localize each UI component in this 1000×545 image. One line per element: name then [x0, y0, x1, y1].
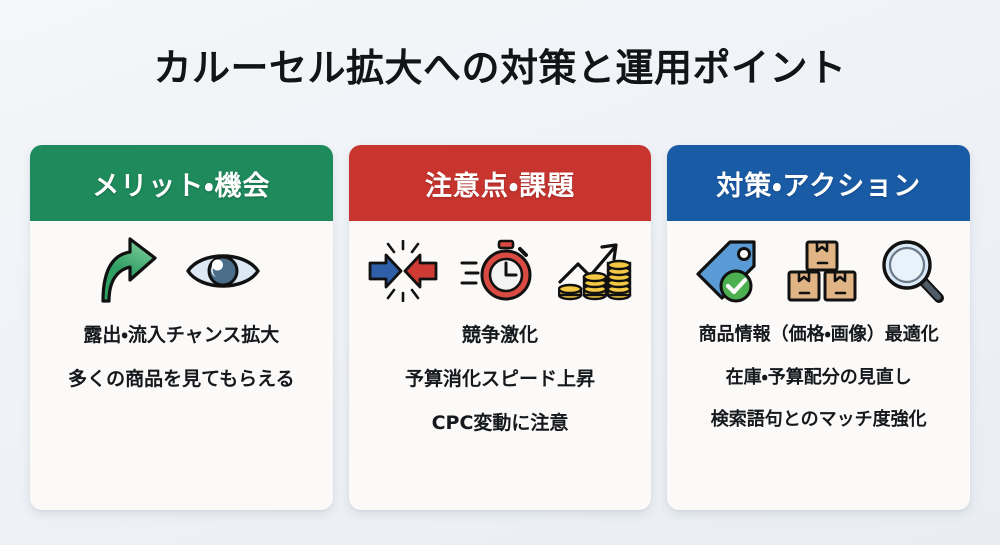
- card-action: 対策・アクション: [667, 145, 970, 510]
- card-action-lines: 商品情報（価格・画像）最適化 在庫・予算配分の見直し 検索語句とのマッチ度強化: [699, 321, 939, 510]
- list-item: 商品情報（価格・画像）最適化: [699, 325, 939, 346]
- card-merit-icons: [101, 221, 261, 321]
- card-risk-body: 競争激化 予算消化スピード上昇 CPC変動に注意: [349, 221, 652, 510]
- list-item: 競争激化: [462, 325, 538, 347]
- card-risk-lines: 競争激化 予算消化スピード上昇 CPC変動に注意: [405, 321, 595, 510]
- up-arrow-icon: [101, 237, 163, 305]
- card-merit-body: 露出・流入チャンス拡大 多くの商品を見てもらえる: [30, 221, 333, 510]
- card-risk: 注意点・課題: [349, 145, 652, 510]
- card-action-body: 商品情報（価格・画像）最適化 在庫・予算配分の見直し 検索語句とのマッチ度強化: [667, 221, 970, 510]
- page-title: カルーセル拡大への対策と運用ポイント: [153, 37, 846, 92]
- card-merit-lines: 露出・流入チャンス拡大 多くの商品を見てもらえる: [68, 321, 294, 510]
- list-item: 露出・流入チャンス拡大: [83, 325, 279, 347]
- card-action-header: 対策・アクション: [667, 145, 970, 221]
- card-action-icons: [692, 221, 946, 321]
- list-item: 在庫・予算配分の見直し: [726, 368, 912, 389]
- list-item: 多くの商品を見てもらえる: [68, 369, 294, 391]
- card-merit-header: メリット・機会: [30, 145, 333, 221]
- price-tag-check-icon: [692, 238, 764, 304]
- boxes-icon: [786, 238, 858, 304]
- list-item: CPC変動に注意: [432, 413, 569, 435]
- list-item: 予算消化スピード上昇: [405, 369, 595, 391]
- stopwatch-icon: [460, 239, 536, 303]
- list-item: 検索語句とのマッチ度強化: [711, 410, 927, 431]
- magnifier-icon: [880, 238, 946, 304]
- card-row: メリット・機会: [30, 145, 970, 510]
- coin-growth-icon: [558, 238, 632, 304]
- slide-root: カルーセル拡大への対策と運用ポイント メリット・機会: [0, 0, 1000, 545]
- card-merit: メリット・機会: [30, 145, 333, 510]
- card-risk-header: 注意点・課題: [349, 145, 652, 221]
- eye-icon: [185, 246, 261, 296]
- colliding-arrows-icon: [368, 240, 438, 302]
- card-risk-icons: [368, 221, 632, 321]
